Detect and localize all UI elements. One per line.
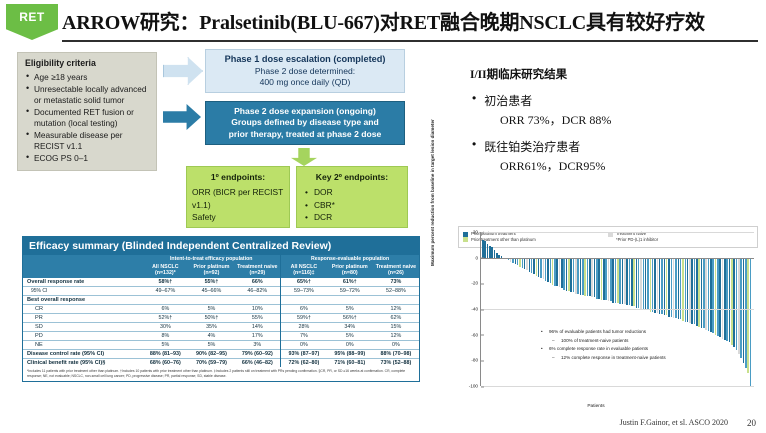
chart-bar	[563, 258, 565, 290]
col-header: Treatment naive (n=26)	[373, 263, 419, 278]
waterfall-chart: Prior platinum treatment Treatment naive…	[432, 226, 760, 408]
arrow-right-dark-icon	[163, 104, 201, 130]
chart-bar	[582, 258, 584, 295]
chart-gridline	[481, 232, 754, 233]
list-item: DCR	[314, 211, 402, 223]
chinese-sub-2: ORR61%，DCR95%	[500, 157, 760, 174]
table-row: SD30%35%14%28%34%15%	[23, 322, 419, 331]
table-cell: 10%	[235, 304, 281, 313]
secondary-endpoints-box: Key 2º endpoints: DOR CBR* DCR	[296, 166, 408, 228]
chart-bar	[666, 258, 668, 316]
table-footnote: *Includes 11 patients with prior treatme…	[23, 367, 419, 381]
chart-bar	[626, 258, 628, 305]
chart-bar	[659, 258, 661, 314]
table-cell: 61%†	[327, 278, 373, 287]
table-row: PD8%4%17%7%5%12%	[23, 331, 419, 340]
primary-endpoints-heading: 1º endpoints:	[192, 171, 284, 183]
chinese-heading: I/II期临床研究结果	[470, 66, 760, 82]
eligibility-box: Eligibility criteria Age ≥18 years Unres…	[17, 52, 157, 171]
chart-bar	[536, 258, 538, 276]
table-cell: 7%	[281, 331, 327, 340]
list-item: ECOG PS 0–1	[34, 153, 152, 164]
table-column-header-row: All NSCLC (n=132)* Prior platinum (n=92)…	[23, 263, 419, 278]
table-cell: 70% (59–79)	[188, 358, 234, 367]
chart-bar	[526, 258, 528, 271]
primary-endpoint-item: Safety	[192, 211, 284, 223]
table-cell: 90% (82–95)	[188, 349, 234, 358]
group-header-itt: Intent-to-treat efficacy population	[142, 255, 280, 263]
chart-bar	[554, 258, 556, 286]
chart-bar	[489, 246, 491, 258]
chart-y-tick: 0	[475, 255, 481, 260]
table-cell: 55%	[235, 313, 281, 322]
chart-gridline	[481, 386, 754, 387]
table-row: NE5%5%3%0%0%0%	[23, 340, 419, 349]
secondary-endpoints-heading: Key 2º endpoints:	[302, 171, 402, 183]
chart-bar	[643, 258, 645, 309]
chinese-sub-1: ORR 73%，DCR 88%	[500, 111, 760, 128]
chart-bar	[570, 258, 572, 293]
row-label: Overall response rate	[23, 278, 142, 287]
chart-bar	[726, 258, 728, 341]
table-cell: 4%	[188, 331, 234, 340]
chart-bar	[647, 258, 649, 311]
chart-bar	[715, 258, 717, 335]
chart-bar	[687, 258, 689, 322]
chart-bar	[724, 258, 726, 340]
chart-bar	[529, 258, 531, 272]
table-cell: 46–82%	[235, 286, 281, 295]
eligibility-heading: Eligibility criteria	[25, 58, 152, 70]
chart-bar	[591, 258, 593, 298]
table-corner-cell	[23, 263, 142, 278]
table-row: CR6%5%10%6%5%12%	[23, 304, 419, 313]
table-cell	[235, 295, 281, 304]
table-body: Overall response rate58%†55%†66%65%†61%†…	[23, 278, 419, 367]
chart-bar	[615, 258, 617, 303]
phase1-line2: 400 mg once daily (QD)	[209, 77, 401, 88]
tick-mark-icon	[481, 232, 484, 233]
chart-bar	[689, 258, 691, 323]
table-cell: 30%	[142, 322, 188, 331]
col-header: All NSCLC (n=116)‡	[281, 263, 327, 278]
chinese-bullet-1: • 初治患者	[472, 92, 760, 109]
chart-bar	[612, 258, 614, 303]
chart-bar	[712, 258, 714, 334]
chart-bar	[740, 258, 742, 358]
chart-bar	[743, 258, 745, 363]
chart-bar	[747, 258, 749, 374]
chart-bar	[708, 258, 710, 331]
table-cell: 66%	[235, 278, 281, 287]
chart-y-tick: -60	[471, 332, 481, 337]
table-cell	[281, 295, 327, 304]
chart-bar	[722, 258, 724, 339]
chart-zero-line	[481, 258, 754, 259]
table-cell: 3%	[235, 340, 281, 349]
legend-swatch-icon	[463, 232, 468, 237]
table-cell: 72% (62–80)	[281, 358, 327, 367]
bullet-dot-icon: •	[472, 138, 476, 155]
chart-bar	[729, 258, 731, 343]
chart-bar	[691, 258, 693, 325]
chart-bar	[487, 244, 489, 258]
group-header-re: Response-evaluable population	[281, 255, 419, 263]
bullet-dot-icon: •	[472, 92, 476, 109]
chart-bar	[610, 258, 612, 302]
table-cell: 34%	[327, 322, 373, 331]
chart-bar	[678, 258, 680, 320]
list-item: Documented RET fusion or mutation (local…	[34, 107, 152, 129]
chart-bar	[587, 258, 589, 297]
efficacy-table: Intent-to-treat efficacy population Resp…	[23, 255, 419, 367]
chart-gridline	[481, 309, 754, 310]
chart-bar	[519, 258, 521, 267]
chart-bar	[682, 258, 684, 321]
table-cell: 28%	[281, 322, 327, 331]
chart-bar	[524, 258, 526, 270]
chart-bar	[596, 258, 598, 299]
chart-bar	[705, 258, 707, 330]
chart-bar	[531, 258, 533, 273]
table-cell: 49–67%	[142, 286, 188, 295]
chart-bar	[717, 258, 719, 336]
phase2-line1: Phase 2 dose expansion (ongoing)	[209, 106, 401, 117]
chart-bar	[710, 258, 712, 332]
table-cell: 59–73%	[281, 286, 327, 295]
row-label: PR	[23, 313, 142, 322]
table-cell: 12%	[373, 331, 419, 340]
arrow-down-green-icon	[291, 148, 317, 166]
chart-bar	[547, 258, 549, 282]
chart-annotations: 96% of evaluable patients had tumor redu…	[541, 328, 666, 363]
chart-bar	[629, 258, 631, 305]
chart-bar	[750, 258, 752, 386]
row-label: CR	[23, 304, 142, 313]
table-row: Best overall response	[23, 295, 419, 304]
phase2-line3: prior therapy, treated at phase 2 dose	[209, 129, 401, 140]
chart-bar	[694, 258, 696, 325]
legend-swatch-icon	[463, 237, 468, 242]
col-header: Prior platinum (n=80)	[327, 263, 373, 278]
chart-bar	[605, 258, 607, 300]
table-cell: 66% (46–82)	[235, 358, 281, 367]
chart-bar	[559, 258, 561, 288]
table-cell: 5%	[142, 340, 188, 349]
chart-bar	[584, 258, 586, 297]
table-cell: 0%	[281, 340, 327, 349]
tick-mark-icon	[481, 258, 484, 259]
chart-y-tick: -80	[471, 358, 481, 363]
table-cell: 5%	[188, 304, 234, 313]
table-cell: 55%†	[188, 278, 234, 287]
table-cell: 59%†	[281, 313, 327, 322]
list-item: Age ≥18 years	[34, 72, 152, 83]
chart-bar	[538, 258, 540, 277]
table-cell	[188, 295, 234, 304]
table-cell: 73% (52–88)	[373, 358, 419, 367]
list-item: Unresectable locally advanced or metasta…	[34, 84, 152, 106]
table-cell: 88% (70–98)	[373, 349, 419, 358]
row-label: NE	[23, 340, 142, 349]
table-cell: 68% (60–76)	[142, 358, 188, 367]
chart-bar	[650, 258, 652, 312]
table-cell: 5%	[188, 340, 234, 349]
table-cell: 15%	[373, 322, 419, 331]
list-item: CBR*	[314, 199, 402, 211]
table-cell: 0%	[327, 340, 373, 349]
chart-bar	[661, 258, 663, 314]
table-cell: 45–66%	[188, 286, 234, 295]
list-item: Measurable disease per RECIST v1.1	[34, 130, 152, 152]
col-header: Treatment naive (n=29)	[235, 263, 281, 278]
annotation: 100% of treatment-naive patients	[541, 337, 666, 346]
table-cell: 62%	[373, 313, 419, 322]
chart-bar	[517, 258, 519, 266]
chart-bar	[573, 258, 575, 293]
table-cell: 6%	[281, 304, 327, 313]
chart-bar	[484, 241, 486, 258]
chinese-summary: I/II期临床研究结果 • 初治患者 ORR 73%，DCR 88% • 既往铂…	[470, 66, 760, 184]
chart-bar	[603, 258, 605, 300]
chart-bar	[657, 258, 659, 313]
col-header: All NSCLC (n=132)*	[142, 263, 188, 278]
chart-bar	[631, 258, 633, 307]
chart-y-tick: 20	[473, 230, 481, 235]
chart-bar	[736, 258, 738, 350]
chart-bar	[491, 247, 493, 257]
chart-bar	[566, 258, 568, 291]
chart-bar	[636, 258, 638, 308]
chinese-bullet-2-text: 既往铂类治疗患者	[484, 138, 580, 155]
efficacy-table-title: Efficacy summary (Blinded Independent Ce…	[23, 237, 419, 255]
table-group-header-row: Intent-to-treat efficacy population Resp…	[23, 255, 419, 263]
table-cell: 6%	[142, 304, 188, 313]
table-cell: 95% (88–99)	[327, 349, 373, 358]
chart-bar	[733, 258, 735, 348]
chart-bar	[575, 258, 577, 294]
col-header: Prior platinum (n=92)	[188, 263, 234, 278]
slide-root: RET ARROW研究：Pralsetinib(BLU-667)对RET融合晚期…	[0, 0, 766, 433]
page-title: ARROW研究：Pralsetinib(BLU-667)对RET融合晚期NSCL…	[62, 6, 762, 35]
annotation: 12% complete response in treatment-naive…	[541, 354, 666, 363]
chart-bar	[533, 258, 535, 275]
chart-bar	[522, 258, 524, 268]
annotation: 6% complete response rate in evaluable p…	[541, 345, 666, 354]
eligibility-list: Age ≥18 years Unresectable locally advan…	[23, 72, 152, 164]
chart-bar	[731, 258, 733, 345]
efficacy-table-panel: Efficacy summary (Blinded Independent Ce…	[22, 236, 420, 382]
chart-bar	[543, 258, 545, 280]
chart-bar	[552, 258, 554, 285]
chart-bar	[680, 258, 682, 320]
chart-bar	[664, 258, 666, 316]
tick-mark-icon	[481, 386, 484, 387]
table-cell: 12%	[373, 304, 419, 313]
chart-bar	[482, 240, 484, 258]
chart-bar	[594, 258, 596, 298]
secondary-endpoints-list: DOR CBR* DCR	[302, 186, 402, 223]
table-cell: 35%	[188, 322, 234, 331]
table-cell	[142, 295, 188, 304]
list-item: DOR	[314, 186, 402, 198]
table-cell: 52–88%	[373, 286, 419, 295]
source-citation: Justin F.Gainor, et sl. ASCO 2020	[620, 418, 728, 427]
table-row: Disease control rate (95% CI)88% (81–93)…	[23, 349, 419, 358]
title-divider	[62, 40, 758, 42]
table-cell: 56%†	[327, 313, 373, 322]
chart-bar	[494, 250, 496, 258]
table-row: Overall response rate58%†55%†66%65%†61%†…	[23, 278, 419, 287]
chart-bar	[617, 258, 619, 303]
tick-mark-icon	[481, 360, 484, 361]
list-item-text: Documented RET fusion or mutation (local…	[34, 107, 134, 128]
row-label: SD	[23, 322, 142, 331]
table-cell: 0%	[373, 340, 419, 349]
row-label: Disease control rate (95% CI)	[23, 349, 142, 358]
row-label: 95% CI	[23, 286, 142, 295]
row-label: PD	[23, 331, 142, 340]
page-number: 20	[747, 418, 756, 428]
chart-bar	[685, 258, 687, 322]
phase1-heading: Phase 1 dose escalation (completed)	[209, 54, 401, 66]
chart-bar	[556, 258, 558, 286]
chinese-bullet-1-text: 初治患者	[484, 92, 532, 109]
primary-endpoint-item: ORR (BICR per RECIST v1.1)	[192, 186, 284, 210]
chinese-bullet-2: • 既往铂类治疗患者	[472, 138, 760, 155]
table-cell: 65%†	[281, 278, 327, 287]
table-cell: 59–72%	[327, 286, 373, 295]
primary-endpoints-box: 1º endpoints: ORR (BICR per RECIST v1.1)…	[186, 166, 290, 228]
chart-bar	[598, 258, 600, 299]
table-row: Clinical benefit rate (95% CI)§68% (60–7…	[23, 358, 419, 367]
table-cell: 5%	[327, 331, 373, 340]
chart-bar	[652, 258, 654, 312]
chart-bar	[745, 258, 747, 368]
table-cell: 73%	[373, 278, 419, 287]
ret-badge: RET	[6, 4, 58, 40]
chart-bar	[545, 258, 547, 281]
phase2-box: Phase 2 dose expansion (ongoing) Groups …	[205, 101, 405, 145]
chart-bar	[703, 258, 705, 329]
chart-bar	[540, 258, 542, 279]
chart-bar	[696, 258, 698, 326]
chart-bar	[638, 258, 640, 308]
table-cell: 88% (81–93)	[142, 349, 188, 358]
chart-bar	[550, 258, 552, 284]
chart-plot-area: 96% of evaluable patients had tumor redu…	[480, 232, 754, 386]
chart-bar	[701, 258, 703, 329]
chart-bar	[719, 258, 721, 338]
chart-bar	[671, 258, 673, 317]
chart-bar	[645, 258, 647, 311]
table-cell: 71% (60–81)	[327, 358, 373, 367]
chart-bar	[698, 258, 700, 327]
table-cell: 50%†	[188, 313, 234, 322]
chart-bar	[601, 258, 603, 300]
chart-y-tick: -100	[469, 384, 481, 389]
row-label: Clinical benefit rate (95% CI)§	[23, 358, 142, 367]
table-head: Intent-to-treat efficacy population Resp…	[23, 255, 419, 278]
table-cell: 8%	[142, 331, 188, 340]
table-row: PR52%†50%†55%59%†56%†62%	[23, 313, 419, 322]
table-cell	[373, 295, 419, 304]
table-corner-cell	[23, 255, 142, 263]
chart-bar	[568, 258, 570, 291]
arrow-right-light-icon	[163, 57, 203, 85]
table-row: 95% CI49–67%45–66%46–82%59–73%59–72%52–8…	[23, 286, 419, 295]
phase2-line2: Groups defined by disease type and	[209, 117, 401, 128]
chart-bar	[561, 258, 563, 289]
chart-bar	[619, 258, 621, 304]
phase1-box: Phase 1 dose escalation (completed) Phas…	[205, 49, 405, 93]
table-cell: 5%	[327, 304, 373, 313]
chart-bar	[738, 258, 740, 354]
chart-y-axis-label: Maximum percent reduction from baseline …	[430, 116, 435, 266]
annotation: 96% of evaluable patients had tumor redu…	[541, 328, 666, 337]
chart-bar	[654, 258, 656, 313]
chart-bar	[668, 258, 670, 317]
row-label: Best overall response	[23, 295, 142, 304]
chart-y-tick: -20	[471, 281, 481, 286]
chart-x-axis-label: Patients	[432, 404, 760, 409]
phase1-line1: Phase 2 dose determined:	[209, 66, 401, 77]
tick-mark-icon	[481, 309, 484, 310]
table-cell: 58%†	[142, 278, 188, 287]
tick-mark-icon	[481, 335, 484, 336]
table-cell: 79% (60–92)	[235, 349, 281, 358]
table-cell: 17%	[235, 331, 281, 340]
chart-bar	[622, 258, 624, 304]
chart-y-tick: -40	[471, 307, 481, 312]
chart-bar	[608, 258, 610, 302]
chart-bar	[577, 258, 579, 294]
tick-mark-icon	[481, 283, 484, 284]
table-cell: 93% (87–97)	[281, 349, 327, 358]
chart-bar	[640, 258, 642, 309]
chart-bar	[589, 258, 591, 297]
table-cell: 14%	[235, 322, 281, 331]
chart-bar	[633, 258, 635, 307]
chart-bar	[580, 258, 582, 295]
chart-bar	[624, 258, 626, 304]
table-cell	[327, 295, 373, 304]
table-cell: 52%†	[142, 313, 188, 322]
